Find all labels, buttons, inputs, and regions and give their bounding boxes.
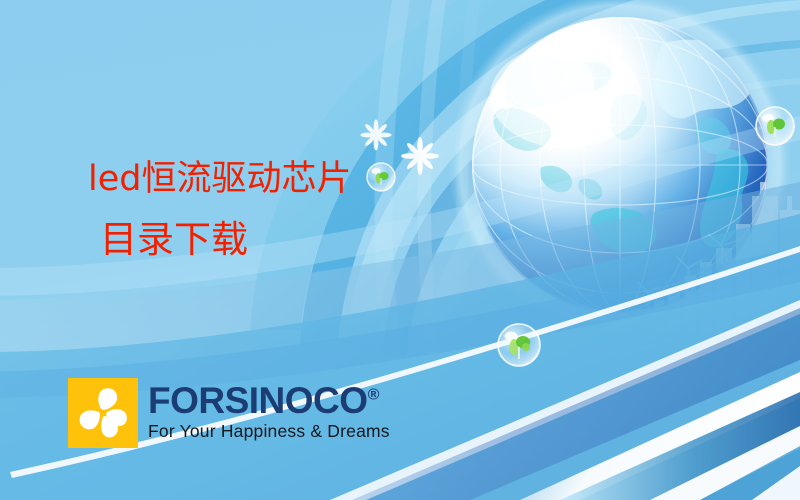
brand-logo: FORSINOCO® For Your Happiness & Dreams (68, 378, 390, 448)
eco-bubble-center (498, 324, 540, 366)
logo-wordmark-text: FORSINOCO (148, 380, 368, 421)
headline-text: led恒流驱动芯片 目录下载 (88, 162, 351, 258)
registered-trademark-icon: ® (368, 387, 379, 404)
headline-line-1: led恒流驱动芯片 (88, 162, 351, 197)
promo-banner: led恒流驱动芯片 目录下载 FORSINOCO® For Your Happi… (0, 0, 800, 500)
logo-wordmark: FORSINOCO® (148, 382, 390, 419)
eco-bubble-right (756, 107, 794, 145)
headline-line-2: 目录下载 (88, 197, 351, 258)
logo-tagline: For Your Happiness & Dreams (148, 421, 390, 442)
eco-bubble-small (367, 163, 395, 191)
forsinoco-pinwheel-icon (68, 378, 138, 448)
logo-text-block: FORSINOCO® For Your Happiness & Dreams (148, 378, 390, 442)
